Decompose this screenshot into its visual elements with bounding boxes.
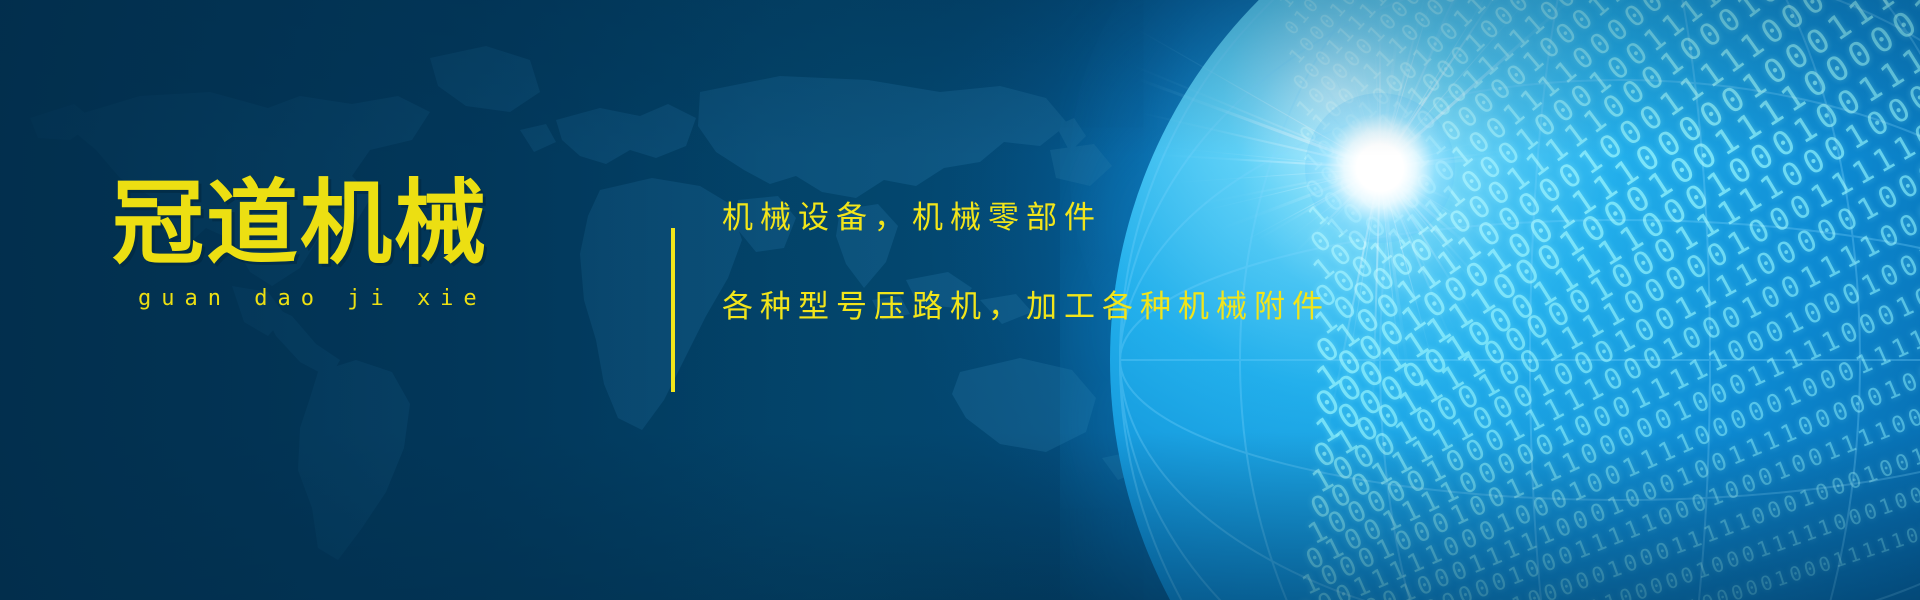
brand-logo[interactable]: 冠道机械 guan dao ji xie [112, 178, 542, 311]
tagline-secondary: 各种型号压路机，加工各种机械附件 [722, 281, 1330, 326]
hero-banner: 0001111100010001001111000001000111110001… [0, 0, 1920, 600]
brand-pinyin: guan dao ji xie [112, 286, 542, 311]
tagline-primary: 机械设备，机械零部件 [722, 192, 1330, 237]
vertical-divider [671, 228, 675, 392]
brand-name: 冠道机械 [112, 178, 542, 270]
banner-content: 冠道机械 guan dao ji xie 机械设备，机械零部件 各种型号压路机，… [0, 0, 1920, 600]
tagline-group: 机械设备，机械零部件 各种型号压路机，加工各种机械附件 [722, 192, 1330, 326]
